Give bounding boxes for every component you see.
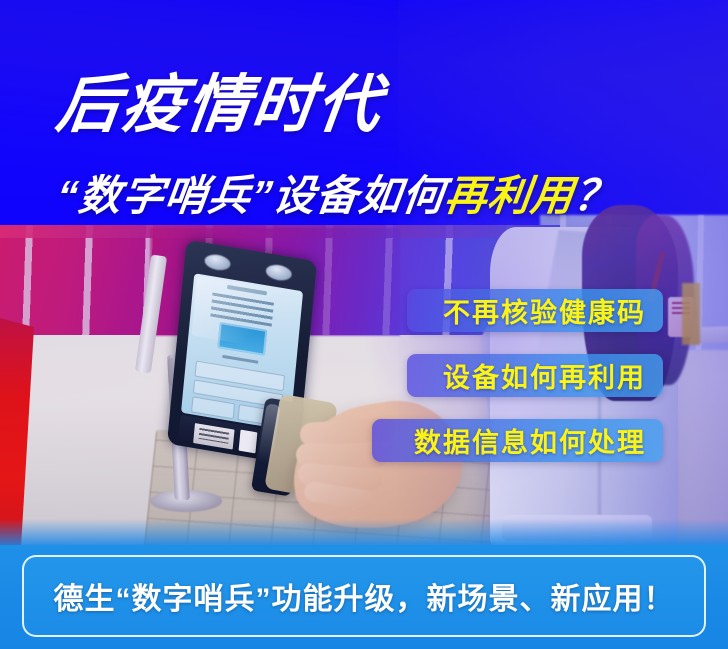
- headline-subtitle-highlight: 再利用: [442, 172, 577, 219]
- kiosk-scanner-window: [239, 430, 258, 454]
- bottom-banner-frame: 德生“数字哨兵”功能升级，新场景、新应用！: [22, 555, 706, 637]
- poster-root: 后疫情时代 “数字哨兵”设备如何再利用？ 不再核验健康码 设备如何再利用 数据信…: [0, 0, 728, 649]
- screen-subtext: [222, 355, 258, 364]
- camera-icon: [265, 263, 292, 282]
- bottom-banner-text: 德生“数字哨兵”功能升级，新场景、新应用！: [54, 574, 675, 618]
- coat-hem: [502, 515, 652, 541]
- feature-badge-list: 不再核验健康码 设备如何再利用 数据信息如何处理: [372, 289, 663, 462]
- headline-main: 后疫情时代: [53, 73, 386, 137]
- feature-badge-data-handling[interactable]: 数据信息如何处理: [372, 419, 663, 462]
- feature-badge-health-code[interactable]: 不再核验健康码: [407, 289, 663, 332]
- headline-subtitle-after: ？: [571, 172, 620, 219]
- headline-subtitle-before: “数字哨兵”设备如何: [54, 172, 448, 219]
- headline-subtitle: “数字哨兵”设备如何再利用？: [54, 174, 619, 218]
- camera-icon: [204, 253, 231, 272]
- headline-block: 后疫情时代: [57, 73, 382, 137]
- background-sign: [682, 283, 700, 345]
- bottom-banner: 德生“数字哨兵”功能升级，新场景、新应用！: [0, 545, 728, 649]
- feature-badge-device-reuse[interactable]: 设备如何再利用: [407, 354, 663, 397]
